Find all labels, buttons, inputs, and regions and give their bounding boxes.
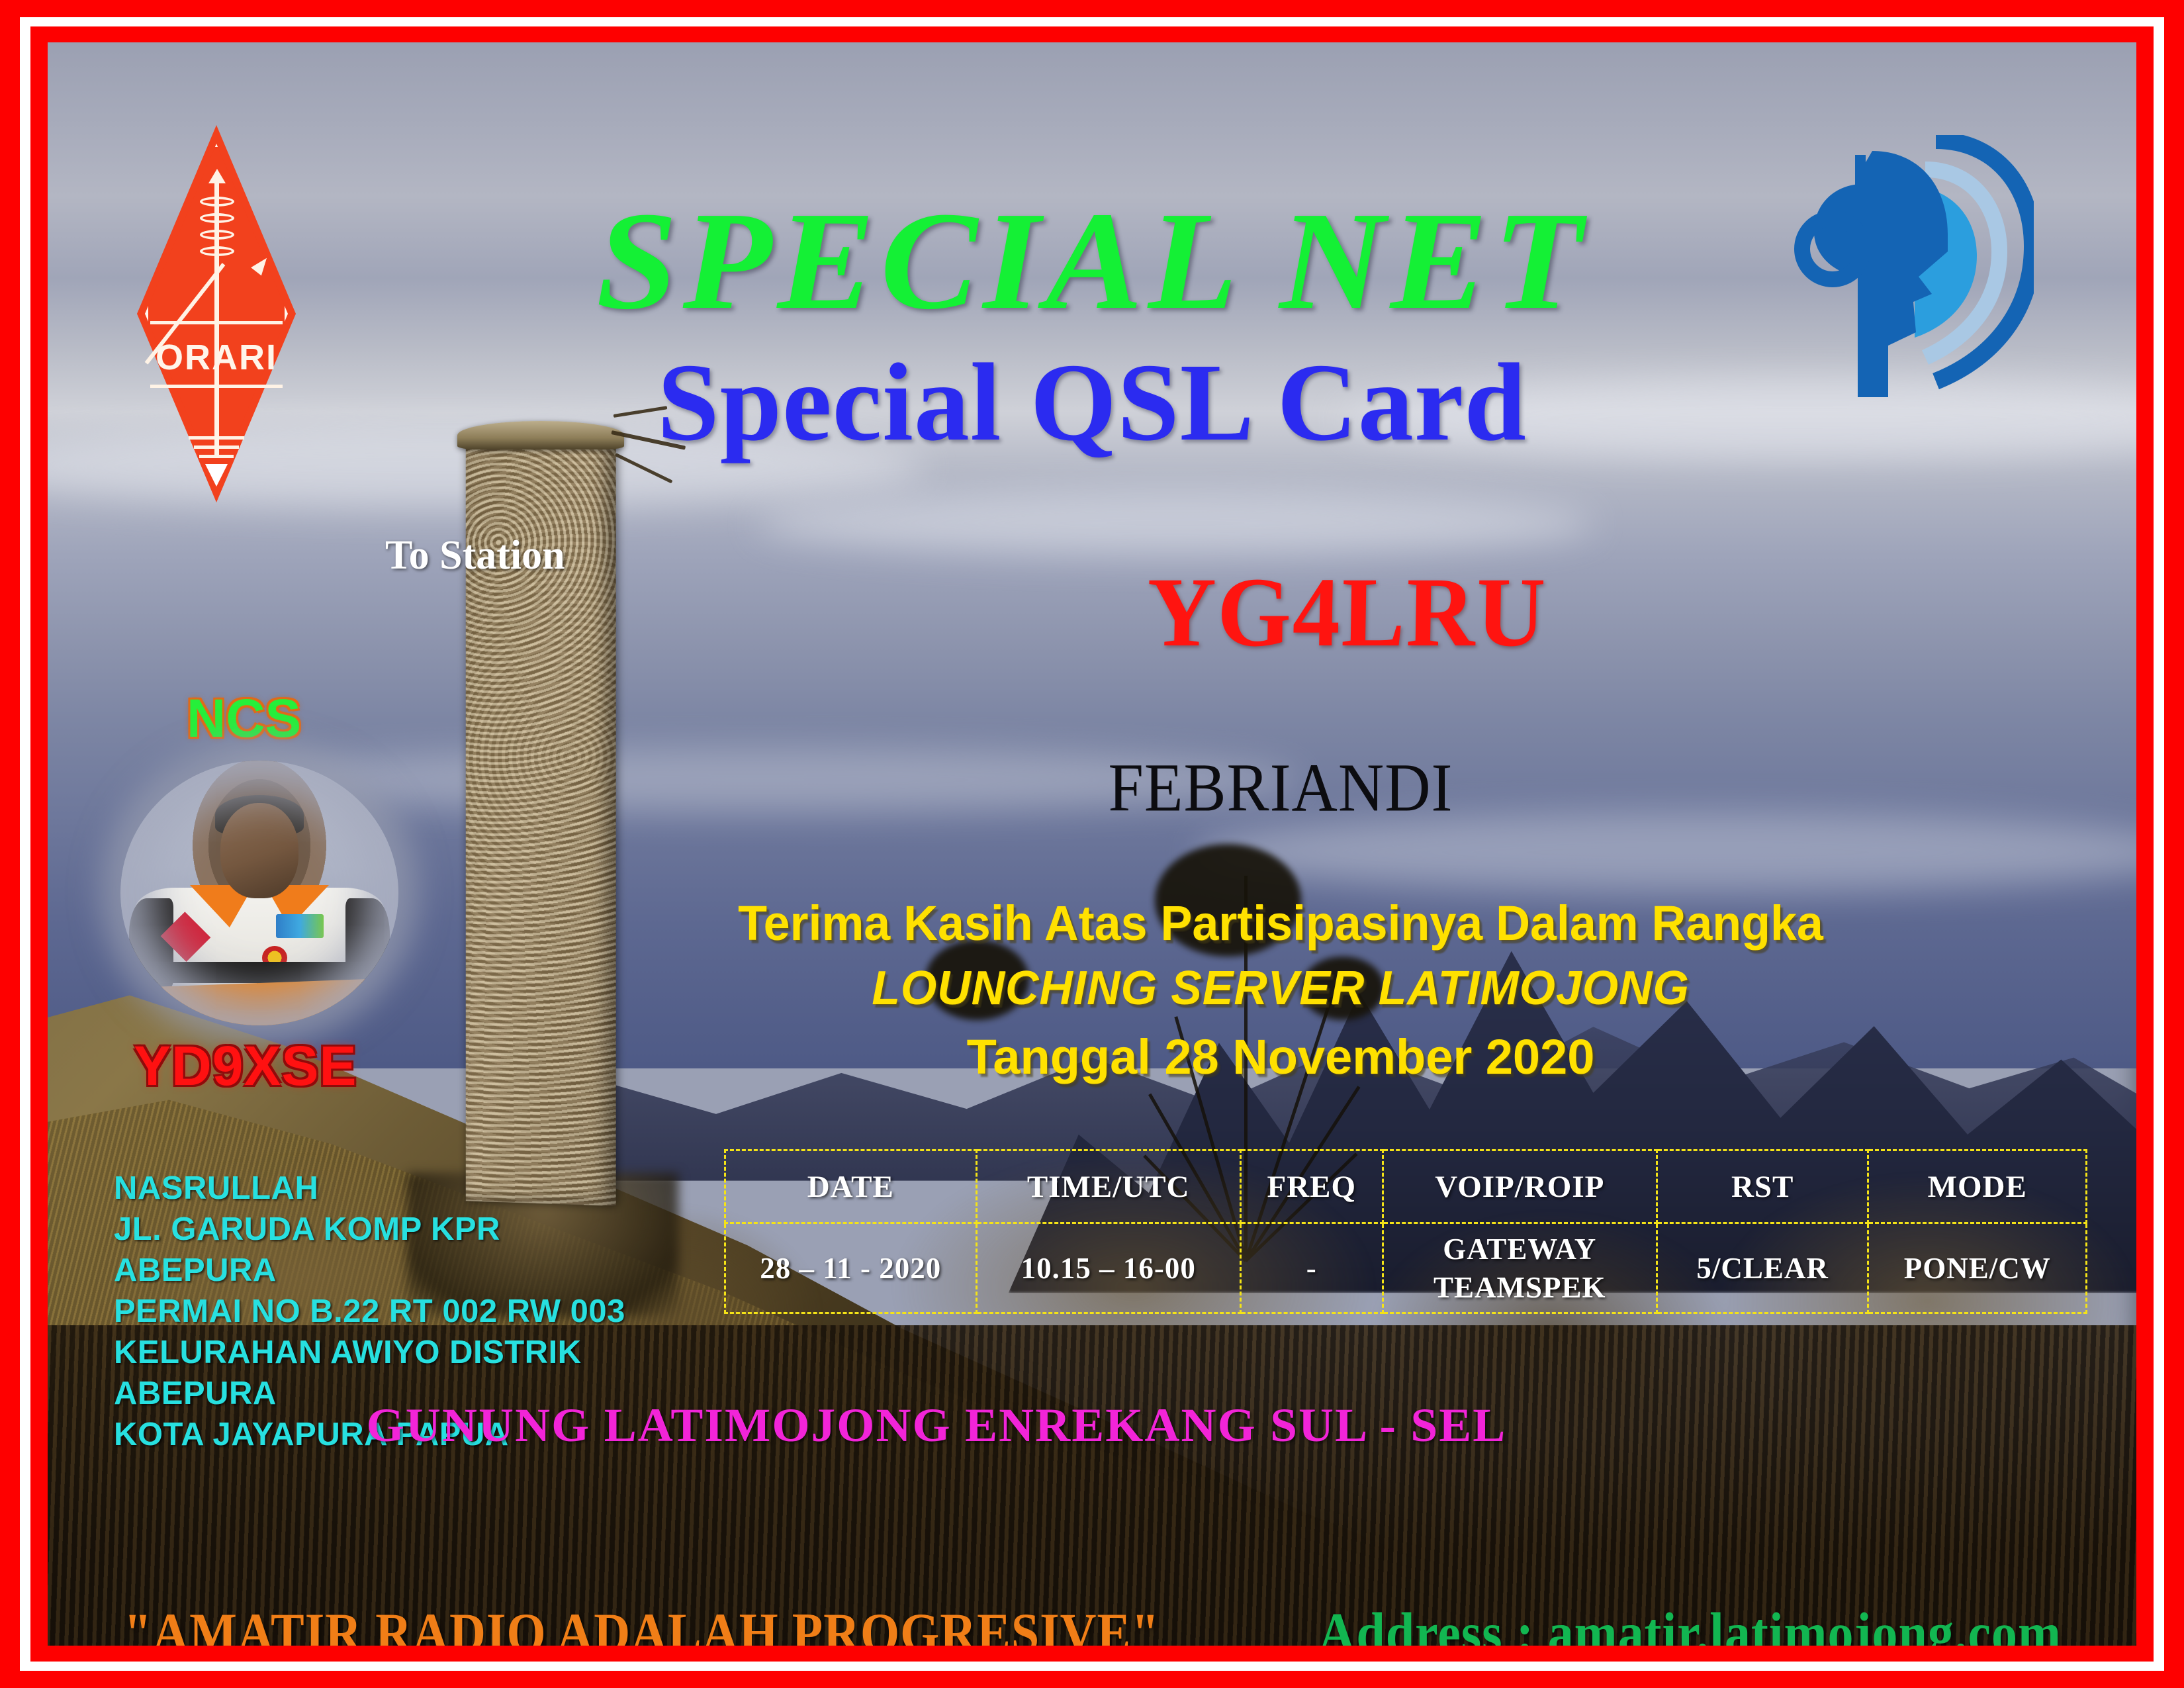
- page-title: SPECIAL NET: [48, 180, 2136, 342]
- operator-name: FEBRIANDI: [236, 748, 2136, 827]
- ground-triangle-icon: [205, 464, 228, 487]
- cell-time: 10.15 – 16-00: [976, 1223, 1240, 1313]
- cell-voip-roip-line1: GATEWAY: [1384, 1230, 1656, 1268]
- address-line: PERMAI NO B.22 RT 002 RW 003: [114, 1291, 625, 1332]
- portrait-vignette: [120, 761, 398, 1025]
- ncs-callsign: YD9XSE: [134, 1034, 357, 1098]
- table-header-row: DATE TIME/UTC FREQ VOIP/ROIP RST MODE: [725, 1150, 2087, 1223]
- cell-date: 28 – 11 - 2020: [725, 1223, 977, 1313]
- column-header-mode: MODE: [1868, 1150, 2087, 1223]
- card-border-white: ORARI: [20, 17, 2164, 1671]
- cell-voip-roip: GATEWAY TEAMSPEK: [1383, 1223, 1657, 1313]
- ncs-label: NCS: [187, 688, 301, 750]
- content-layer: ORARI: [48, 42, 2136, 1646]
- operator-portrait: [120, 761, 398, 1025]
- address-line: KELURAHAN AWIYO DISTRIK: [114, 1332, 625, 1373]
- qso-log-table: DATE TIME/UTC FREQ VOIP/ROIP RST MODE 28…: [724, 1149, 2087, 1314]
- thanks-line-2: LOUNCHING SERVER LATIMOJONG: [267, 961, 2136, 1015]
- cell-freq: -: [1240, 1223, 1383, 1313]
- qsl-card: ORARI: [0, 0, 2184, 1688]
- thanks-line-1: Terima Kasih Atas Partisipasinya Dalam R…: [267, 895, 2136, 951]
- column-header-time: TIME/UTC: [976, 1150, 1240, 1223]
- page-subtitle: Special QSL Card: [48, 339, 2136, 467]
- recipient-callsign: YG4LRU: [343, 555, 2136, 669]
- footer-slogan: "AMATIR RADIO ADALAH PROGRESIVE": [124, 1601, 1160, 1646]
- footer-web-address: Address : amatir.latimojong.com: [1318, 1600, 2062, 1646]
- column-header-freq: FREQ: [1240, 1150, 1383, 1223]
- background-photograph: ORARI: [48, 42, 2136, 1646]
- column-header-rst: RST: [1657, 1150, 1868, 1223]
- column-header-voip-roip: VOIP/ROIP: [1383, 1150, 1657, 1223]
- address-line: ABEPURA: [114, 1250, 625, 1291]
- thanks-line-3: Tanggal 28 November 2020: [236, 1029, 2136, 1085]
- card-border-red-inner: ORARI: [30, 26, 2154, 1662]
- table-row: 28 – 11 - 2020 10.15 – 16-00 - GATEWAY T…: [725, 1223, 2087, 1313]
- cell-mode: PONE/CW: [1868, 1223, 2087, 1313]
- cell-rst: 5/CLEAR: [1657, 1223, 1868, 1313]
- column-header-date: DATE: [725, 1150, 977, 1223]
- address-line: JL. GARUDA KOMP KPR: [114, 1209, 625, 1250]
- location-line: GUNUNG LATIMOJONG ENREKANG SUL - SEL: [48, 1398, 2002, 1453]
- address-line: NASRULLAH: [114, 1168, 625, 1209]
- cell-voip-roip-line2: TEAMSPEK: [1384, 1268, 1656, 1307]
